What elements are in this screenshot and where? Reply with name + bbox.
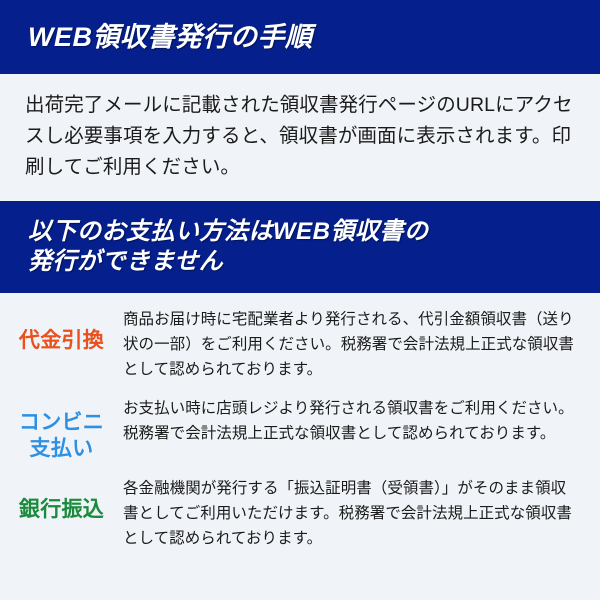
receipt-info-page: WEB領収書発行の手順 出荷完了メールに記載された領収書発行ページのURLにアク… bbox=[0, 0, 600, 600]
method-description-convenience-store: お支払い時に店頭レジより発行される領収書をご利用ください。税務署で会計法規上正式… bbox=[123, 396, 586, 446]
method-label-cell: 銀行振込 bbox=[0, 476, 123, 523]
method-label-cell: コンビニ 支払い bbox=[0, 396, 123, 462]
method-label-bank-transfer: 銀行振込 bbox=[19, 497, 104, 523]
main-header-banner: WEB領収書発行の手順 bbox=[0, 0, 600, 74]
intro-section: 出荷完了メールに記載された領収書発行ページのURLにアクセスし必要事項を入力する… bbox=[0, 74, 600, 201]
payment-method-row-cash-on-delivery: 代金引換 商品お届け時に宅配業者より発行される、代引金額領収書（送り状の一部）を… bbox=[0, 307, 600, 382]
payment-method-row-convenience-store: コンビニ 支払い お支払い時に店頭レジより発行される領収書をご利用ください。税務… bbox=[0, 396, 600, 462]
method-label-convenience-store: コンビニ 支払い bbox=[19, 410, 104, 462]
payment-method-row-bank-transfer: 銀行振込 各金融機関が発行する「振込証明書（受領書）」がそのまま領収書としてご利… bbox=[0, 476, 600, 551]
payment-methods-list: 代金引換 商品お届け時に宅配業者より発行される、代引金額領収書（送り状の一部）を… bbox=[0, 293, 600, 551]
method-label-cash-on-delivery: 代金引換 bbox=[19, 328, 104, 354]
method-label-cell: 代金引換 bbox=[0, 307, 123, 354]
restriction-header-banner: 以下のお支払い方法はWEB領収書の 発行ができません bbox=[0, 201, 600, 293]
page-title: WEB領収書発行の手順 bbox=[28, 22, 313, 52]
method-description-cash-on-delivery: 商品お届け時に宅配業者より発行される、代引金額領収書（送り状の一部）をご利用くだ… bbox=[123, 307, 586, 382]
restriction-title: 以下のお支払い方法はWEB領収書の 発行ができません bbox=[28, 217, 429, 277]
intro-paragraph: 出荷完了メールに記載された領収書発行ページのURLにアクセスし必要事項を入力する… bbox=[25, 90, 578, 183]
method-description-bank-transfer: 各金融機関が発行する「振込証明書（受領書）」がそのまま領収書としてご利用いただけ… bbox=[123, 476, 586, 551]
